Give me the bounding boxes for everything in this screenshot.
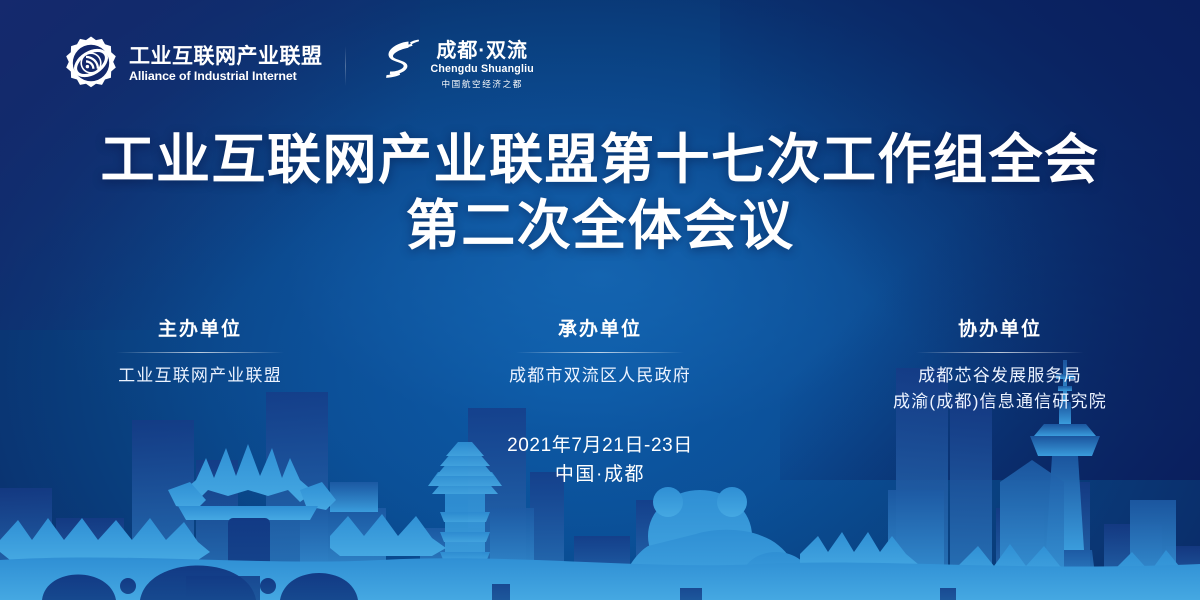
alliance-name-en: Alliance of Industrial Internet bbox=[129, 68, 323, 85]
page-title: 工业互联网产业联盟第十七次工作组全会 第二次全体会议 bbox=[0, 128, 1200, 260]
organizer-divider bbox=[516, 352, 684, 353]
organizer-column-coorganizer: 协办单位 成都芯谷发展服务局 成渝(成都)信息通信研究院 bbox=[800, 318, 1200, 415]
organizer-section: 主办单位 工业互联网产业联盟 承办单位 成都市双流区人民政府 协办单位 成都芯谷… bbox=[0, 318, 1200, 415]
logo-separator bbox=[345, 46, 346, 86]
conference-banner: 工业互联网产业联盟 Alliance of Industrial Interne… bbox=[0, 0, 1200, 600]
event-meta: 2021年7月21日-23日 中国·成都 bbox=[0, 432, 1200, 489]
logo-bar: 工业互联网产业联盟 Alliance of Industrial Interne… bbox=[62, 34, 534, 97]
organizer-divider bbox=[916, 352, 1084, 353]
alliance-logo: 工业互联网产业联盟 Alliance of Industrial Interne… bbox=[62, 34, 323, 97]
shuangliu-name-en: Chengdu Shuangliu bbox=[431, 62, 534, 77]
shuangliu-logo: 成都·双流 Chengdu Shuangliu 中国航空经济之都 bbox=[368, 35, 534, 96]
organizer-column-host: 主办单位 工业互联网产业联盟 bbox=[0, 318, 400, 415]
organizer-name: 工业互联网产业联盟 bbox=[24, 363, 376, 389]
event-location: 中国·成都 bbox=[0, 461, 1200, 490]
organizer-role-host: 主办单位 bbox=[24, 318, 376, 343]
alliance-logo-text: 工业互联网产业联盟 Alliance of Industrial Interne… bbox=[129, 46, 323, 85]
runway-plane-icon bbox=[368, 35, 424, 96]
organizer-name: 成都芯谷发展服务局 bbox=[824, 363, 1176, 389]
shuangliu-logo-text: 成都·双流 Chengdu Shuangliu 中国航空经济之都 bbox=[431, 41, 534, 91]
organizer-name: 成渝(成都)信息通信研究院 bbox=[824, 389, 1176, 415]
title-line-1: 工业互联网产业联盟第十七次工作组全会 bbox=[0, 128, 1200, 194]
title-line-2: 第二次全体会议 bbox=[0, 194, 1200, 260]
gear-wifi-icon bbox=[62, 34, 120, 97]
organizer-role-coorganizer: 协办单位 bbox=[824, 318, 1176, 343]
shuangliu-tagline: 中国航空经济之都 bbox=[431, 78, 534, 91]
event-date: 2021年7月21日-23日 bbox=[0, 432, 1200, 461]
organizer-divider bbox=[116, 352, 284, 353]
shuangliu-name-cn: 成都·双流 bbox=[431, 41, 534, 63]
organizer-name: 成都市双流区人民政府 bbox=[424, 363, 776, 389]
organizer-column-undertaker: 承办单位 成都市双流区人民政府 bbox=[400, 318, 800, 415]
organizer-role-undertaker: 承办单位 bbox=[424, 318, 776, 343]
alliance-name-cn: 工业互联网产业联盟 bbox=[129, 46, 323, 68]
